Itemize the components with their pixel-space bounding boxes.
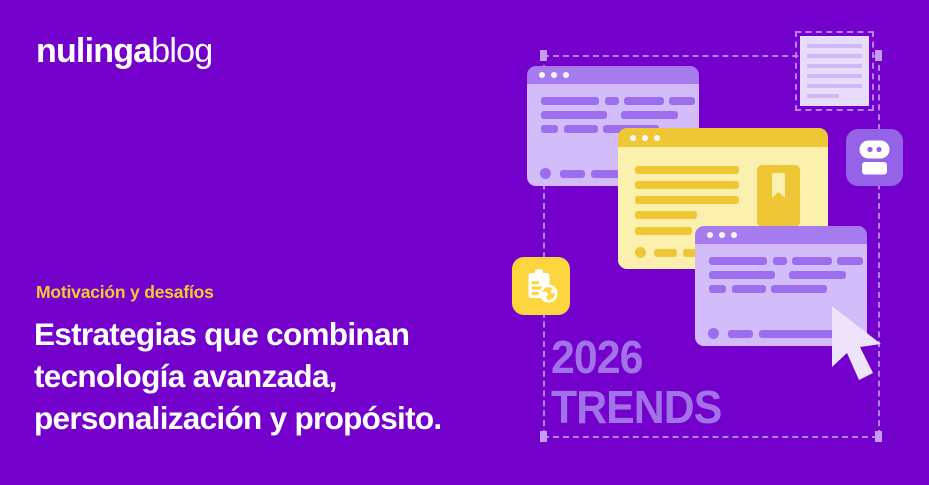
anchor-handle-top-right[interactable] xyxy=(875,50,882,61)
anchor-handle-top-left[interactable] xyxy=(540,50,547,61)
logo-bold-text: nulinga xyxy=(36,32,151,70)
logo-light-text: blog xyxy=(151,32,212,70)
window-dot-close xyxy=(707,232,713,238)
content-bar xyxy=(792,257,832,265)
document-selection-frame[interactable] xyxy=(795,31,874,111)
content-bar xyxy=(837,257,863,265)
content-bar xyxy=(732,285,766,293)
content-bar xyxy=(669,97,695,105)
content-bar xyxy=(789,271,846,279)
content-bar xyxy=(635,196,739,204)
robot-chatbot-icon-tile[interactable] xyxy=(846,129,903,186)
content-bar xyxy=(771,285,827,293)
content-avatar-dot xyxy=(635,247,646,258)
content-bar xyxy=(759,330,834,338)
content-bar xyxy=(635,181,739,189)
content-bar xyxy=(635,227,692,235)
content-bar xyxy=(654,249,677,257)
trends-label: 2026 TRENDS xyxy=(551,332,721,432)
anchor-handle-bottom-right[interactable] xyxy=(875,431,882,442)
window-dot-close xyxy=(539,72,545,78)
window-dot-maximize xyxy=(731,232,737,238)
content-bar xyxy=(709,257,767,265)
content-bar xyxy=(709,271,775,279)
window-titlebar xyxy=(695,226,867,244)
guide-line-bottom xyxy=(543,436,878,438)
content-bar xyxy=(728,330,753,338)
content-bar xyxy=(635,166,739,174)
page-title: Estrategias que combinan tecnología avan… xyxy=(34,313,554,439)
content-bar xyxy=(564,125,598,133)
window-dot-maximize xyxy=(654,135,660,141)
content-bar xyxy=(624,97,664,105)
robot-chatbot-icon xyxy=(857,140,892,175)
window-dot-close xyxy=(630,135,636,141)
window-dot-minimize xyxy=(551,72,557,78)
blog-banner: nulingablog xyxy=(0,0,929,485)
trends-word: TRENDS xyxy=(551,382,721,432)
window-titlebar xyxy=(618,128,828,147)
content-bar xyxy=(560,170,585,178)
trends-year: 2026 xyxy=(551,332,721,382)
content-avatar-dot xyxy=(540,168,551,179)
window-dot-minimize xyxy=(642,135,648,141)
content-bar xyxy=(605,97,619,105)
content-bar xyxy=(709,285,726,293)
clipboard-globe-icon-tile[interactable] xyxy=(512,257,570,315)
content-bar xyxy=(621,111,678,119)
content-bar xyxy=(541,111,607,119)
window-dot-maximize xyxy=(563,72,569,78)
clipboard-globe-icon xyxy=(525,269,558,304)
content-bar xyxy=(773,257,787,265)
window-dot-minimize xyxy=(719,232,725,238)
window-titlebar xyxy=(527,66,699,84)
kicker-text: Motivación y desafíos xyxy=(36,282,214,303)
mouse-cursor-icon[interactable] xyxy=(826,303,898,383)
content-bar xyxy=(541,97,599,105)
bookmark-icon xyxy=(770,173,787,199)
content-bar xyxy=(541,125,558,133)
nulinga-blog-logo[interactable]: nulingablog xyxy=(36,31,212,71)
content-bar xyxy=(635,211,697,219)
